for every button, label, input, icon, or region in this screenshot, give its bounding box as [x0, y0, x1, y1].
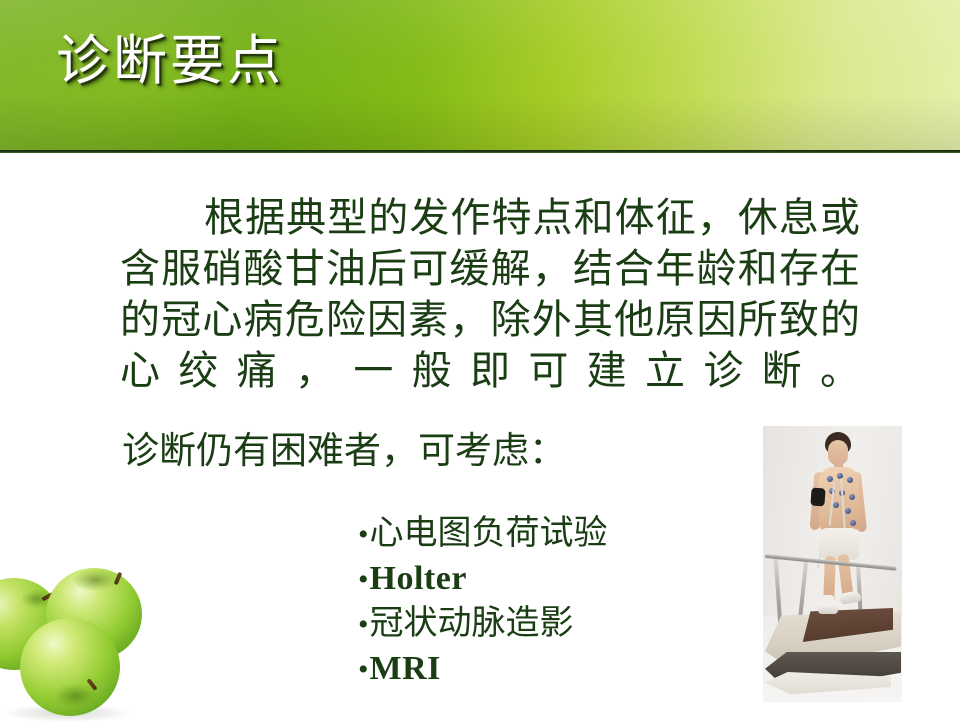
sub-heading: 诊断仍有困难者，可考虑： [122, 428, 566, 476]
ecg-electrode [845, 508, 851, 514]
page-title: 诊断要点 [56, 30, 284, 92]
header-divider-rule [0, 150, 960, 153]
list-item-label: 心电图负荷试验 [370, 512, 608, 556]
patient-shoe-right [839, 590, 862, 604]
bullet-dot-icon: • [358, 513, 369, 557]
bullet-dot-icon: • [358, 648, 369, 692]
ecg-electrode [850, 520, 856, 526]
list-item-label: MRI [370, 647, 441, 691]
body-paragraph: 根据典型的发作特点和体征，休息或含服硝酸甘油后可缓解，结合年龄和存在的冠心病危险… [120, 192, 860, 396]
list-item: • 冠状动脉造影 [358, 602, 608, 647]
bullet-dot-icon: • [358, 603, 369, 647]
bullet-dot-icon: • [358, 558, 369, 602]
ecg-electrode [833, 502, 839, 508]
apple-stem-dimple [54, 684, 96, 708]
list-item-label: 冠状动脉造影 [370, 602, 574, 646]
list-item: • Holter [358, 557, 608, 602]
ecg-electrode [847, 477, 853, 483]
blood-pressure-cuff [810, 488, 825, 507]
patient-figure [809, 432, 869, 614]
ecg-electrode [849, 494, 855, 500]
apple-front [20, 618, 120, 716]
apple-stem-dimple [74, 570, 116, 590]
patient-shoe-left [818, 604, 838, 614]
list-item: • MRI [358, 647, 608, 692]
bullet-list: • 心电图负荷试验 • Holter • 冠状动脉造影 • MRI [358, 512, 608, 692]
treadmill-stress-test-photo [763, 426, 902, 702]
list-item-label: Holter [370, 557, 467, 601]
ecg-electrode [827, 476, 833, 482]
green-apples-photo [0, 562, 174, 728]
treadmill-base-front [765, 672, 891, 698]
slide-root: 诊断要点 根据典型的发作特点和体征，休息或含服硝酸甘油后可缓解，结合年龄和存在的… [0, 0, 960, 720]
list-item: • 心电图负荷试验 [358, 512, 608, 557]
